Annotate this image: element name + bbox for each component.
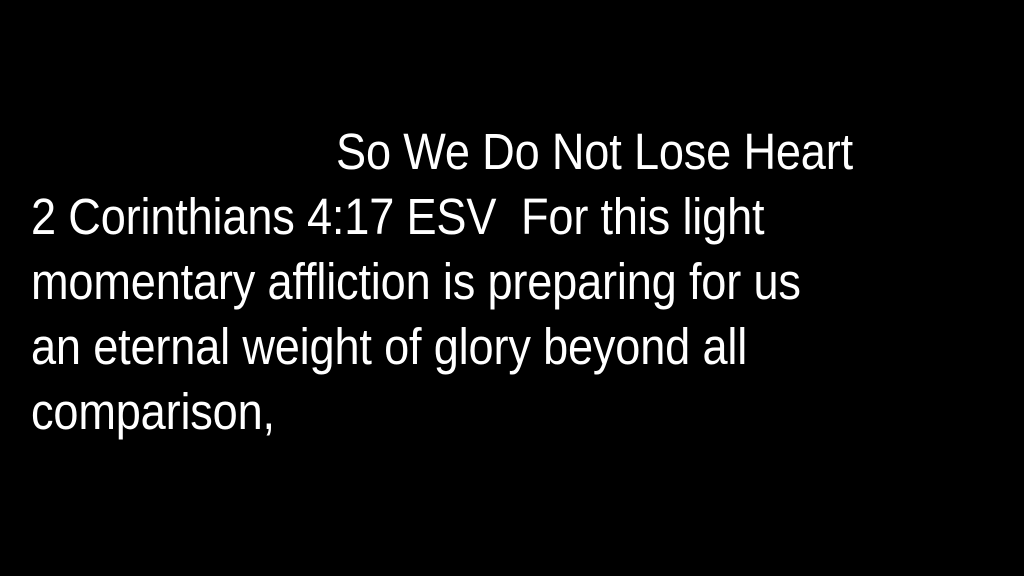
slide-title: So We Do Not Lose Heart <box>31 119 887 184</box>
scripture-line-2: momentary affliction is preparing for us <box>31 249 887 314</box>
scripture-line-1: 2 Corinthians 4:17 ESV For this light <box>31 184 887 249</box>
scripture-line-3: an eternal weight of glory beyond all <box>31 314 887 379</box>
presentation-slide: So We Do Not Lose Heart 2 Corinthians 4:… <box>0 0 1024 576</box>
slide-text-block: So We Do Not Lose Heart 2 Corinthians 4:… <box>0 119 1024 444</box>
scripture-line-4: comparison, <box>31 379 887 444</box>
